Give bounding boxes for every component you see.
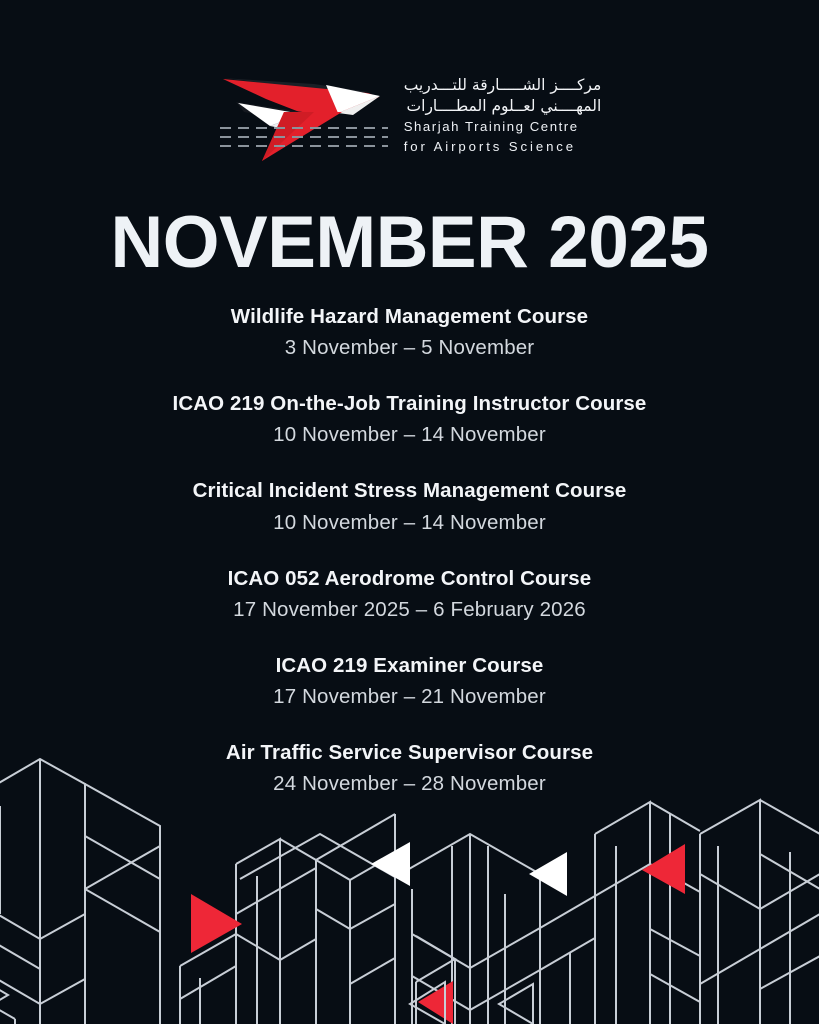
accent-triangle-red-2	[642, 844, 685, 894]
brand-arabic-line-1: مركــــز الشـــــارقة للتـــدريب	[404, 76, 602, 95]
accent-triangle-white-2	[371, 842, 410, 886]
course-dates: 10 November – 14 November	[0, 420, 819, 449]
course-name: Critical Incident Stress Management Cour…	[0, 476, 819, 505]
course-name: Air Traffic Service Supervisor Course	[0, 738, 819, 767]
sharjah-swoosh-logo-icon	[218, 66, 390, 162]
course-item: Air Traffic Service Supervisor Course 24…	[0, 738, 819, 798]
accent-triangle-white-3	[499, 984, 533, 1024]
course-dates: 3 November – 5 November	[0, 333, 819, 362]
course-dates: 17 November 2025 – 6 February 2026	[0, 595, 819, 624]
course-item: ICAO 219 Examiner Course 17 November – 2…	[0, 651, 819, 711]
course-dates: 24 November – 28 November	[0, 769, 819, 798]
brand-wordmark: مركــــز الشـــــارقة للتـــدريب المهـــ…	[404, 66, 602, 156]
course-item: Critical Incident Stress Management Cour…	[0, 476, 819, 536]
course-name: ICAO 052 Aerodrome Control Course	[0, 564, 819, 593]
brand-logo: مركــــز الشـــــارقة للتـــدريب المهـــ…	[0, 66, 819, 166]
poster-canvas: مركــــز الشـــــارقة للتـــدريب المهـــ…	[0, 0, 819, 1024]
brand-latin-line-2: for Airports Science	[404, 138, 602, 156]
course-item: Wildlife Hazard Management Course 3 Nove…	[0, 302, 819, 362]
course-item: ICAO 219 On-the-Job Training Instructor …	[0, 389, 819, 449]
course-list: Wildlife Hazard Management Course 3 Nove…	[0, 302, 819, 798]
page-title: NOVEMBER 2025	[0, 206, 819, 279]
accent-triangle-red-3	[418, 981, 453, 1024]
brand-latin-line-1: Sharjah Training Centre	[404, 118, 602, 136]
course-item: ICAO 052 Aerodrome Control Course 17 Nov…	[0, 564, 819, 624]
brand-arabic-line-2: المهــــني لعــلوم المطــــارات	[404, 97, 602, 116]
course-name: Wildlife Hazard Management Course	[0, 302, 819, 331]
accent-triangle-red	[191, 894, 242, 953]
course-name: ICAO 219 Examiner Course	[0, 651, 819, 680]
accent-triangle-white	[529, 852, 567, 896]
course-name: ICAO 219 On-the-Job Training Instructor …	[0, 389, 819, 418]
course-dates: 10 November – 14 November	[0, 508, 819, 537]
course-dates: 17 November – 21 November	[0, 682, 819, 711]
accent-triangle-outline	[410, 982, 445, 1024]
